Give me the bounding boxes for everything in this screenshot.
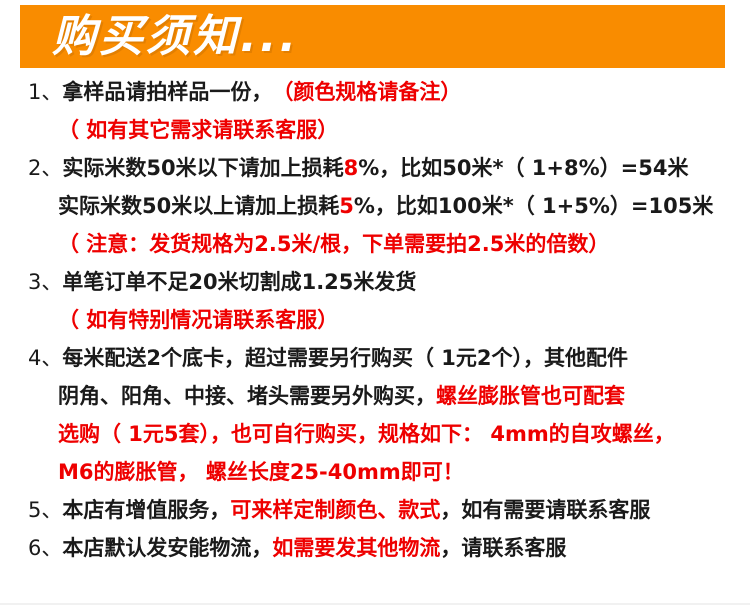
notice-subline: （ 注意：发货规格为2.5米/根，下单需要拍2.5米的倍数） — [0, 228, 750, 266]
notice-subline: （ 如有特别情况请联系客服） — [0, 304, 750, 342]
notice-subline: 阴角、阳角、中接、堵头需要另外购买，螺丝膨胀管也可配套 — [0, 380, 750, 418]
notice-item-marker: 5、 — [28, 494, 62, 524]
notice-item: 4、每米配送2个底卡，超过需要另行购买（ 1元2个），其他配件 — [0, 342, 750, 380]
body-text: 本店有增值服务， — [62, 494, 230, 524]
body-text: 每米配送2个底卡，超过需要另行购买（ 1元2个），其他配件 — [62, 342, 628, 372]
highlight-text: （颜色规格请备注） — [272, 76, 461, 106]
notice-item-marker: 4、 — [28, 342, 62, 372]
notice-item: 5、本店有增值服务，可来样定制颜色、款式，如有需要请联系客服 — [0, 494, 750, 532]
header-banner: 购买须知... — [20, 5, 725, 68]
highlight-text: （ 如有特别情况请联系客服） — [58, 304, 338, 334]
notice-item-marker: 1、 — [28, 76, 62, 106]
body-text: %，比如100米*（ 1+5%）=105米 — [354, 190, 713, 220]
notice-subline: （ 如有其它需求请联系客服） — [0, 114, 750, 152]
notice-item: 6、本店默认发安能物流，如需要发其他物流，请联系客服 — [0, 532, 750, 570]
notice-subline: M6的膨胀管， 螺丝长度25-40mm即可！ — [0, 456, 750, 494]
highlight-text: M6的膨胀管， 螺丝长度25-40mm即可！ — [58, 456, 464, 486]
notice-item-marker: 2、 — [28, 152, 62, 182]
highlight-text: （ 如有其它需求请联系客服） — [58, 114, 338, 144]
body-text: 实际米数50米以上请加上损耗 — [58, 190, 339, 220]
body-text: ，如有需要请联系客服 — [440, 494, 650, 524]
body-text: 单笔订单不足20米切割成1.25米发货 — [62, 266, 416, 296]
body-text: 阴角、阳角、中接、堵头需要另外购买， — [58, 380, 436, 410]
notice-item-marker: 6、 — [28, 532, 62, 562]
notice-list: 1、拿样品请拍样品一份，（颜色规格请备注）（ 如有其它需求请联系客服）2、实际米… — [0, 76, 750, 570]
body-text: %，比如50米*（ 1+8%）=54米 — [358, 152, 688, 182]
highlight-text: 8 — [344, 156, 359, 180]
highlight-text: 可来样定制颜色、款式 — [230, 494, 440, 524]
notice-item-marker: 3、 — [28, 266, 62, 296]
body-text: ，请联系客服 — [440, 532, 566, 562]
bottom-divider — [0, 603, 750, 605]
notice-item: 2、实际米数50米以下请加上损耗8%，比如50米*（ 1+8%）=54米 — [0, 152, 750, 190]
notice-item: 3、单笔订单不足20米切割成1.25米发货 — [0, 266, 750, 304]
page-title: 购买须知... — [52, 7, 299, 67]
purchase-notice-page: 购买须知... 1、拿样品请拍样品一份，（颜色规格请备注）（ 如有其它需求请联系… — [0, 0, 750, 608]
body-text: 本店默认发安能物流， — [62, 532, 272, 562]
highlight-text: 如需要发其他物流 — [272, 532, 440, 562]
highlight-text: （ 注意：发货规格为2.5米/根，下单需要拍2.5米的倍数） — [58, 228, 609, 258]
highlight-text: 5 — [339, 194, 354, 218]
notice-subline: 选购（ 1元5套），也可自行购买，规格如下： 4mm的自攻螺丝， — [0, 418, 750, 456]
highlight-text: 选购（ 1元5套），也可自行购买，规格如下： 4mm的自攻螺丝， — [58, 418, 675, 448]
body-text: 实际米数50米以下请加上损耗 — [62, 152, 343, 182]
notice-subline: 实际米数50米以上请加上损耗5%，比如100米*（ 1+5%）=105米 — [0, 190, 750, 228]
notice-item: 1、拿样品请拍样品一份，（颜色规格请备注） — [0, 76, 750, 114]
body-text: 拿样品请拍样品一份， — [62, 76, 272, 106]
highlight-text: 螺丝膨胀管也可配套 — [436, 380, 625, 410]
